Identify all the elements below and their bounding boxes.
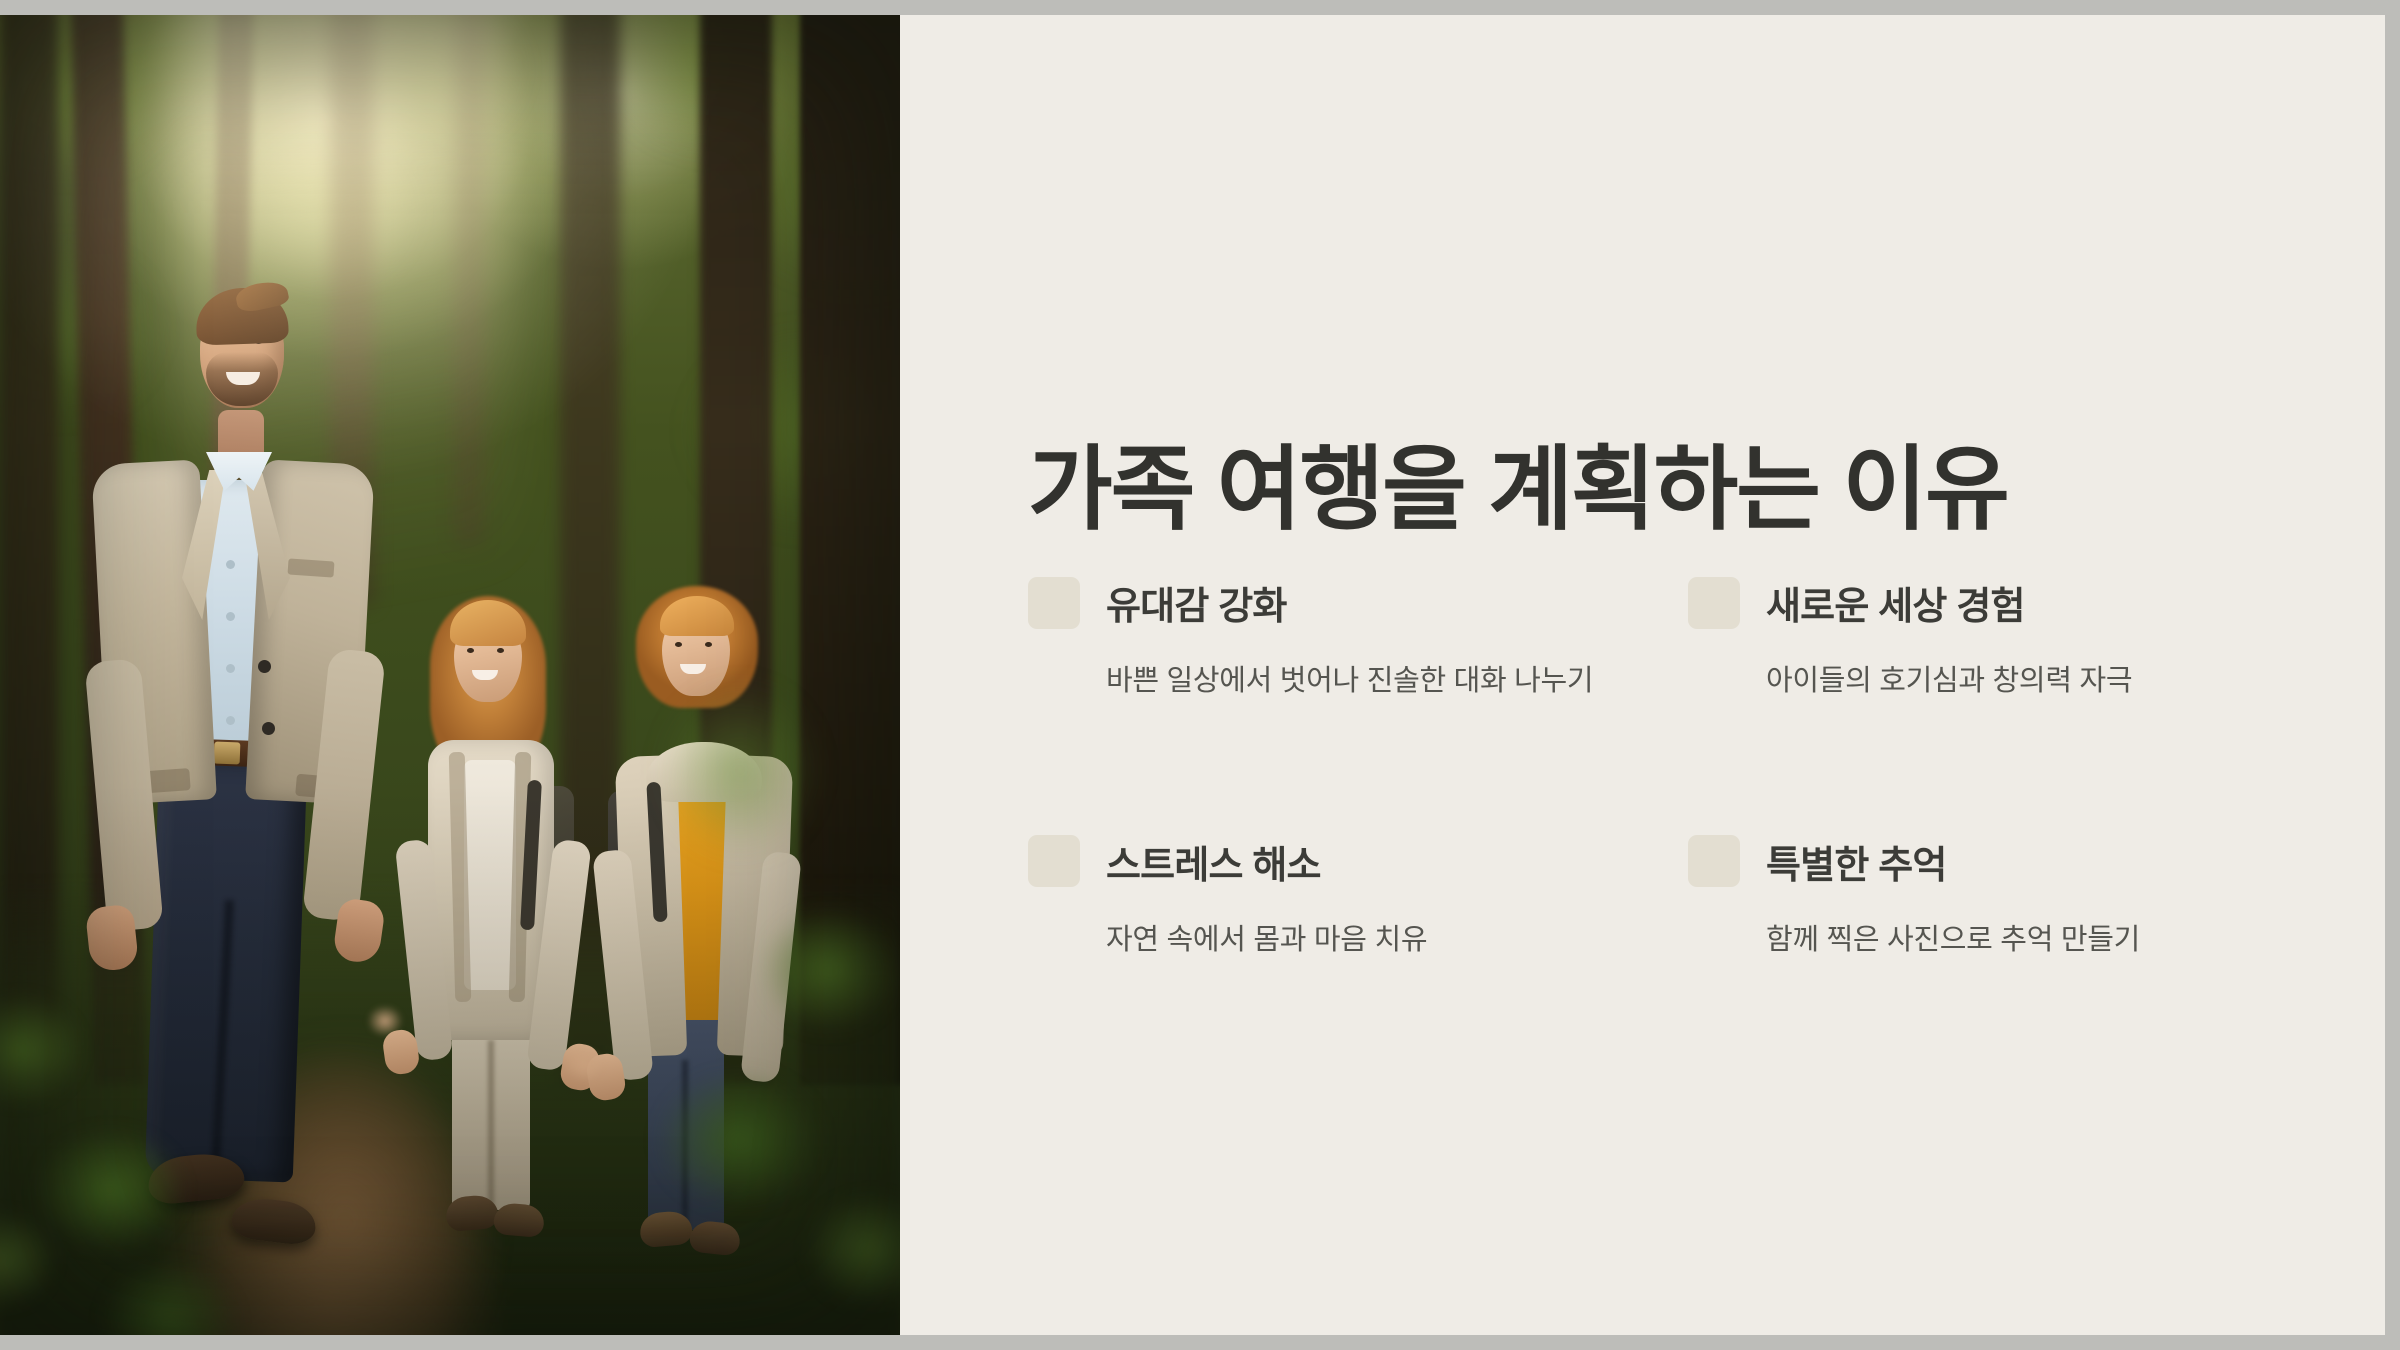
father-belt-buckle: [214, 742, 241, 765]
family-forest-photo: [0, 15, 900, 1335]
father-jacket-button: [262, 722, 275, 735]
feature-header: 스트레스 해소: [1028, 834, 1658, 889]
square-badge-icon: [1688, 835, 1740, 887]
square-badge-icon: [1028, 577, 1080, 629]
feature-description: 바쁜 일상에서 벗어나 진솔한 대화 나누기: [1106, 659, 1616, 705]
girl-eye: [497, 648, 504, 653]
content-panel: 가족 여행을 계획하는 이유 유대감 강화 바쁜 일상에서 벗어나 진솔한 대화…: [900, 15, 2385, 1335]
feature-grid: 유대감 강화 바쁜 일상에서 벗어나 진솔한 대화 나누기 새로운 세상 경험 …: [1028, 575, 2318, 993]
girl-inner-top: [464, 760, 516, 990]
girl-right-shoe: [493, 1202, 546, 1238]
feature-item-bonding: 유대감 강화 바쁜 일상에서 벗어나 진솔한 대화 나누기: [1028, 575, 1658, 734]
page-title: 가족 여행을 계획하는 이유: [1028, 439, 2008, 542]
feature-item-new-world: 새로운 세상 경험 아이들의 호기심과 창의력 자극: [1688, 575, 2318, 734]
square-badge-icon: [1028, 835, 1080, 887]
father-jacket-button: [258, 660, 271, 673]
feature-header: 특별한 추억: [1688, 834, 2318, 889]
feature-item-stress-relief: 스트레스 해소 자연 속에서 몸과 마음 치유: [1028, 834, 1658, 993]
father-shirt-button: [226, 560, 235, 569]
girl-eye: [467, 648, 474, 653]
feature-title: 스트레스 해소: [1106, 834, 1321, 889]
father-chest-pocket: [287, 558, 334, 577]
father-right-hand: [332, 897, 386, 965]
feature-title: 특별한 추억: [1766, 834, 1947, 889]
held-hands: [566, 1048, 602, 1080]
held-hands: [368, 1006, 402, 1036]
feature-item-memories: 특별한 추억 함께 찍은 사진으로 추억 만들기: [1688, 834, 2318, 993]
father-shirt-button: [226, 716, 235, 725]
feature-title: 유대감 강화: [1106, 575, 1287, 630]
foreground-foliage-left: [0, 930, 290, 1335]
father-shirt-button: [226, 664, 235, 673]
feature-header: 유대감 강화: [1028, 575, 1658, 630]
midground-foliage: [620, 620, 860, 920]
square-badge-icon: [1688, 577, 1740, 629]
feature-description: 함께 찍은 사진으로 추억 만들기: [1766, 918, 2276, 964]
feature-title: 새로운 세상 경험: [1766, 575, 2025, 630]
feature-header: 새로운 세상 경험: [1688, 575, 2318, 630]
feature-description: 아이들의 호기심과 창의력 자극: [1766, 659, 2276, 705]
father-shirt-button: [226, 612, 235, 621]
foreground-foliage-right: [630, 850, 900, 1335]
feature-description: 자연 속에서 몸과 마음 치유: [1106, 918, 1616, 964]
slide-canvas: 가족 여행을 계획하는 이유 유대감 강화 바쁜 일상에서 벗어나 진솔한 대화…: [0, 15, 2385, 1335]
girl-leg-separation: [488, 1040, 494, 1210]
